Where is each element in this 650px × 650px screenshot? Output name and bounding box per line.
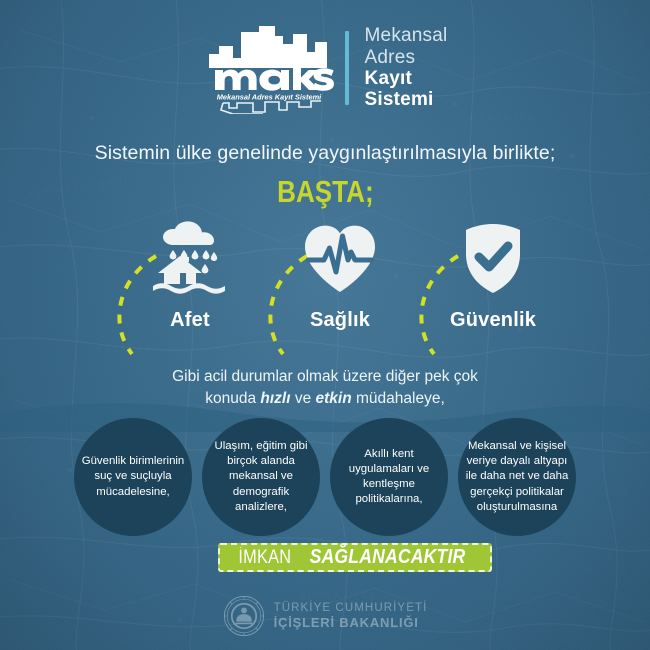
ministry-footer-text: TÜRKİYE CUMHURİYETİ İÇİŞLERİ BAKANLIĞI: [274, 601, 428, 631]
benefit-bubble-4-text: Mekansal ve kişisel veriye dayalı altyap…: [464, 439, 570, 514]
benefit-bubble-2-text: Ulaşım, eğitim gibi birçok alanda mekans…: [208, 439, 314, 514]
benefit-bubble-4: Mekansal ve kişisel veriye dayalı altyap…: [458, 418, 576, 536]
logo-title-line-3: Kayıt: [365, 68, 448, 89]
shield-check-icon: [418, 212, 568, 302]
category-guvenlik: Güvenlik: [418, 212, 568, 332]
banner-word-imkan: İMKAN: [238, 547, 291, 569]
logo-title-text: Mekansal Adres Kayıt Sistemi: [365, 25, 448, 110]
header-logo-block: Mekansal Adres Kayıt Sistemi Mekansal Ad…: [0, 22, 650, 114]
headline-block: Sistemin ülke genelinde yaygınlaştırılma…: [0, 142, 650, 210]
flood-house-icon: [115, 212, 265, 302]
benefit-bubble-1: Güvenlik birimlerinin suç ve suçluyla mü…: [74, 418, 192, 536]
headline-line-1: Sistemin ülke genelinde yaygınlaştırılma…: [0, 142, 650, 165]
benefit-bubble-3-text: Akıllı kent uygulamaları ve kentleşme po…: [336, 447, 442, 507]
heart-pulse-icon: [265, 212, 415, 302]
infographic-poster: SUNDIKLIN DAGI KARAKAYA AKSARAY NIGDE KO…: [0, 0, 650, 650]
logo-title-line-4: Sistemi: [365, 89, 448, 110]
category-label-guvenlik: Güvenlik: [418, 309, 568, 332]
benefit-bubble-1-text: Güvenlik birimlerinin suç ve suçluyla mü…: [80, 454, 186, 499]
call-to-action-banner: İMKAN SAĞLANACAKTIR: [218, 543, 492, 572]
middle-paragraph-line-1: Gibi acil durumlar olmak üzere diğer pek…: [0, 366, 650, 388]
maks-logo-icon: Mekansal Adres Kayıt Sistemi: [203, 22, 335, 114]
benefit-bubble-2: Ulaşım, eğitim gibi birçok alanda mekans…: [202, 418, 320, 536]
banner-word-saglanacaktir: SAĞLANACAKTIR: [309, 546, 465, 569]
ministry-footer: TÜRKİYE CUMHURİYETİ İÇİŞLERİ BAKANLIĞI: [0, 595, 650, 637]
category-afet: Afet: [115, 212, 265, 332]
svg-text:Mekansal Adres Kayıt Sistemi: Mekansal Adres Kayıt Sistemi: [216, 93, 321, 102]
headline-line-2-basta: BAŞTA;: [277, 174, 373, 210]
benefit-bubble-3: Akıllı kent uygulamaları ve kentleşme po…: [330, 418, 448, 536]
category-icon-row: Afet Sağlık Güvenlik: [0, 212, 650, 342]
category-saglik: Sağlık: [265, 212, 415, 332]
ministry-seal-icon: [223, 595, 265, 637]
logo-divider: [345, 31, 349, 105]
logo-title-line-1: Mekansal: [365, 25, 448, 46]
category-label-afet: Afet: [115, 309, 265, 332]
ministry-line-2: İÇİŞLERİ BAKANLIĞI: [274, 615, 428, 631]
benefit-bubble-row: Güvenlik birimlerinin suç ve suçluyla mü…: [0, 418, 650, 536]
logo-title-line-2: Adres: [365, 47, 448, 68]
category-label-saglik: Sağlık: [265, 309, 415, 332]
ministry-line-1: TÜRKİYE CUMHURİYETİ: [274, 601, 428, 615]
